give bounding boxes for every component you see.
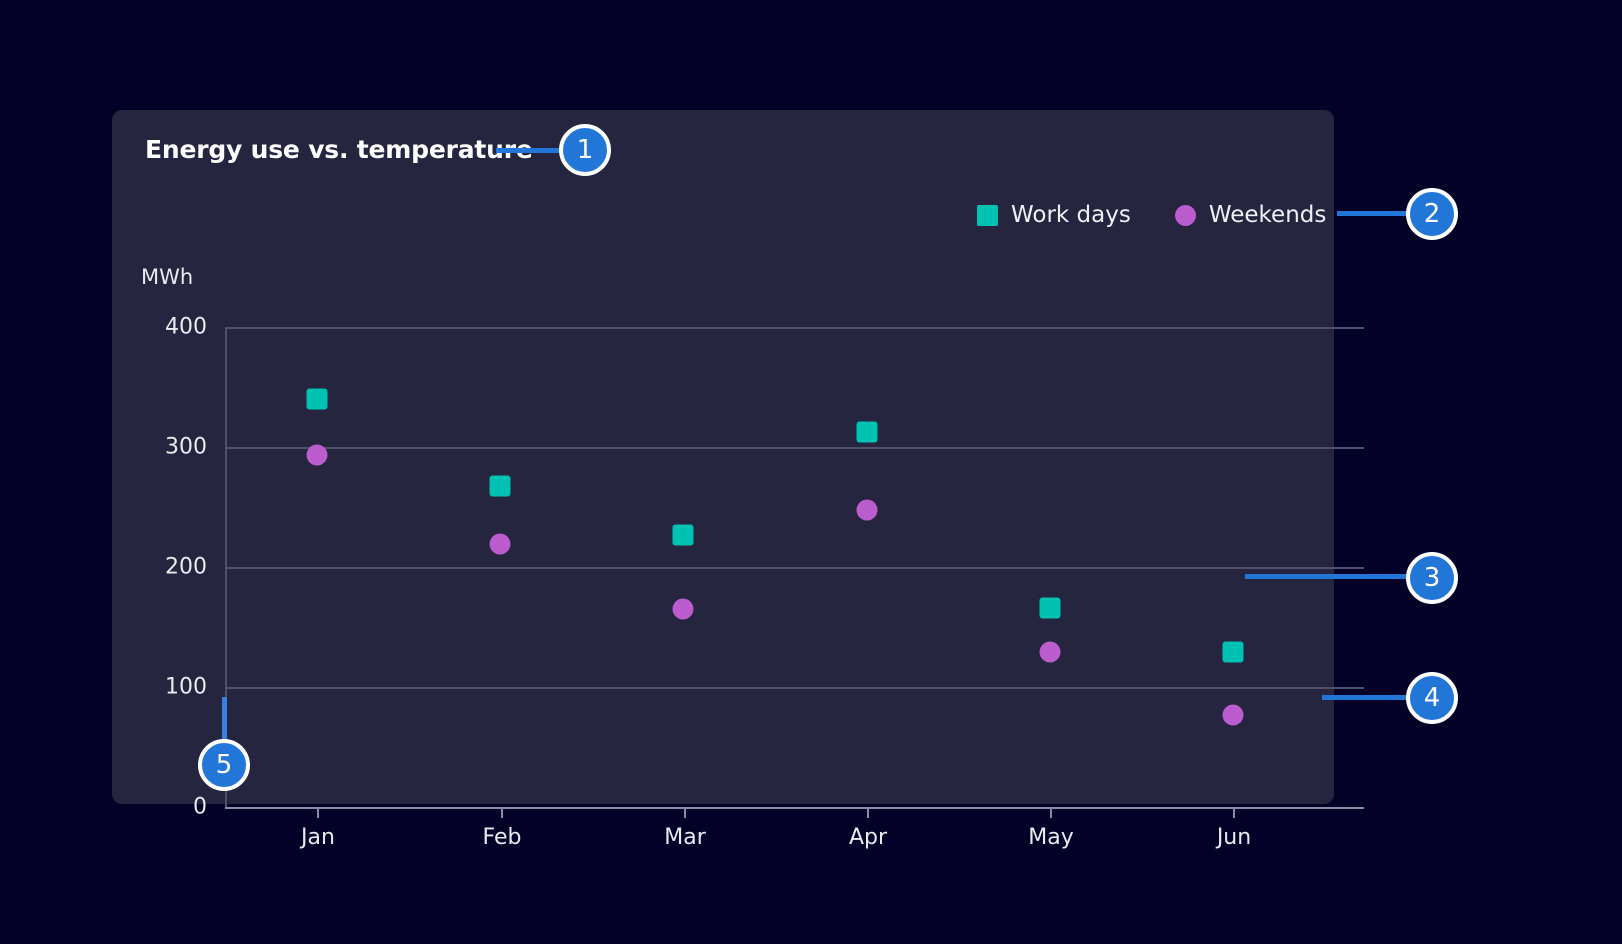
x-tick-mark	[501, 809, 503, 818]
page-title: Energy use vs. temperature	[145, 135, 533, 164]
x-axis-line	[225, 807, 1364, 809]
y-tick-label: 100	[165, 675, 207, 700]
data-point-apr-work-days[interactable]	[856, 421, 877, 442]
circle-marker-icon	[1175, 205, 1196, 226]
x-tick-label-feb: Feb	[483, 825, 522, 850]
x-tick-mark	[1050, 809, 1052, 818]
legend-item-work-days[interactable]: Work days	[977, 202, 1131, 228]
gridline-300	[225, 447, 1364, 449]
x-tick-label-mar: Mar	[664, 825, 706, 850]
y-axis-unit-label: MWh	[141, 265, 193, 289]
data-point-jan-weekends[interactable]	[307, 444, 328, 465]
y-tick-label: 200	[165, 555, 207, 580]
data-point-may-work-days[interactable]	[1039, 597, 1060, 618]
y-tick-label: 300	[165, 435, 207, 460]
square-marker-icon	[977, 205, 998, 226]
chart-card: Energy use vs. temperature Work days Wee…	[112, 110, 1334, 804]
data-point-mar-weekends[interactable]	[673, 598, 694, 619]
plot-area: 400 300 200 100 0 Jan Feb Mar Apr May Ju…	[225, 327, 1364, 809]
data-point-may-weekends[interactable]	[1039, 642, 1060, 663]
gridline-100	[225, 687, 1364, 689]
screenshot-root: Energy use vs. temperature Work days Wee…	[0, 0, 1622, 944]
x-tick-mark	[684, 809, 686, 818]
x-tick-mark	[1233, 809, 1235, 818]
y-tick-label: 400	[165, 315, 207, 340]
callout-badge-2[interactable]: 2	[1406, 188, 1458, 240]
callout-badge-1[interactable]: 1	[559, 124, 611, 176]
callout-badge-5[interactable]: 5	[198, 739, 250, 791]
legend-item-label: Work days	[1011, 202, 1131, 228]
chart-legend: Work days Weekends	[977, 202, 1326, 228]
x-tick-label-apr: Apr	[849, 825, 887, 850]
x-tick-mark	[317, 809, 319, 818]
data-point-jan-work-days[interactable]	[307, 389, 328, 410]
gridline-400	[225, 327, 1364, 329]
y-tick-label: 0	[193, 795, 207, 820]
data-point-mar-work-days[interactable]	[673, 525, 694, 546]
callout-badge-4[interactable]: 4	[1406, 672, 1458, 724]
x-tick-label-jun: Jun	[1217, 825, 1251, 850]
data-point-apr-weekends[interactable]	[856, 500, 877, 521]
x-tick-label-may: May	[1028, 825, 1073, 850]
legend-item-label: Weekends	[1209, 202, 1327, 228]
callout-leader-line-3	[1245, 574, 1427, 579]
legend-item-weekends[interactable]: Weekends	[1175, 202, 1327, 228]
callout-badge-3[interactable]: 3	[1406, 552, 1458, 604]
data-point-feb-weekends[interactable]	[490, 533, 511, 554]
x-tick-mark	[867, 809, 869, 818]
data-point-jun-weekends[interactable]	[1223, 705, 1244, 726]
gridline-200	[225, 567, 1364, 569]
data-point-jun-work-days[interactable]	[1223, 642, 1244, 663]
x-tick-label-jan: Jan	[301, 825, 335, 850]
data-point-feb-work-days[interactable]	[490, 476, 511, 497]
